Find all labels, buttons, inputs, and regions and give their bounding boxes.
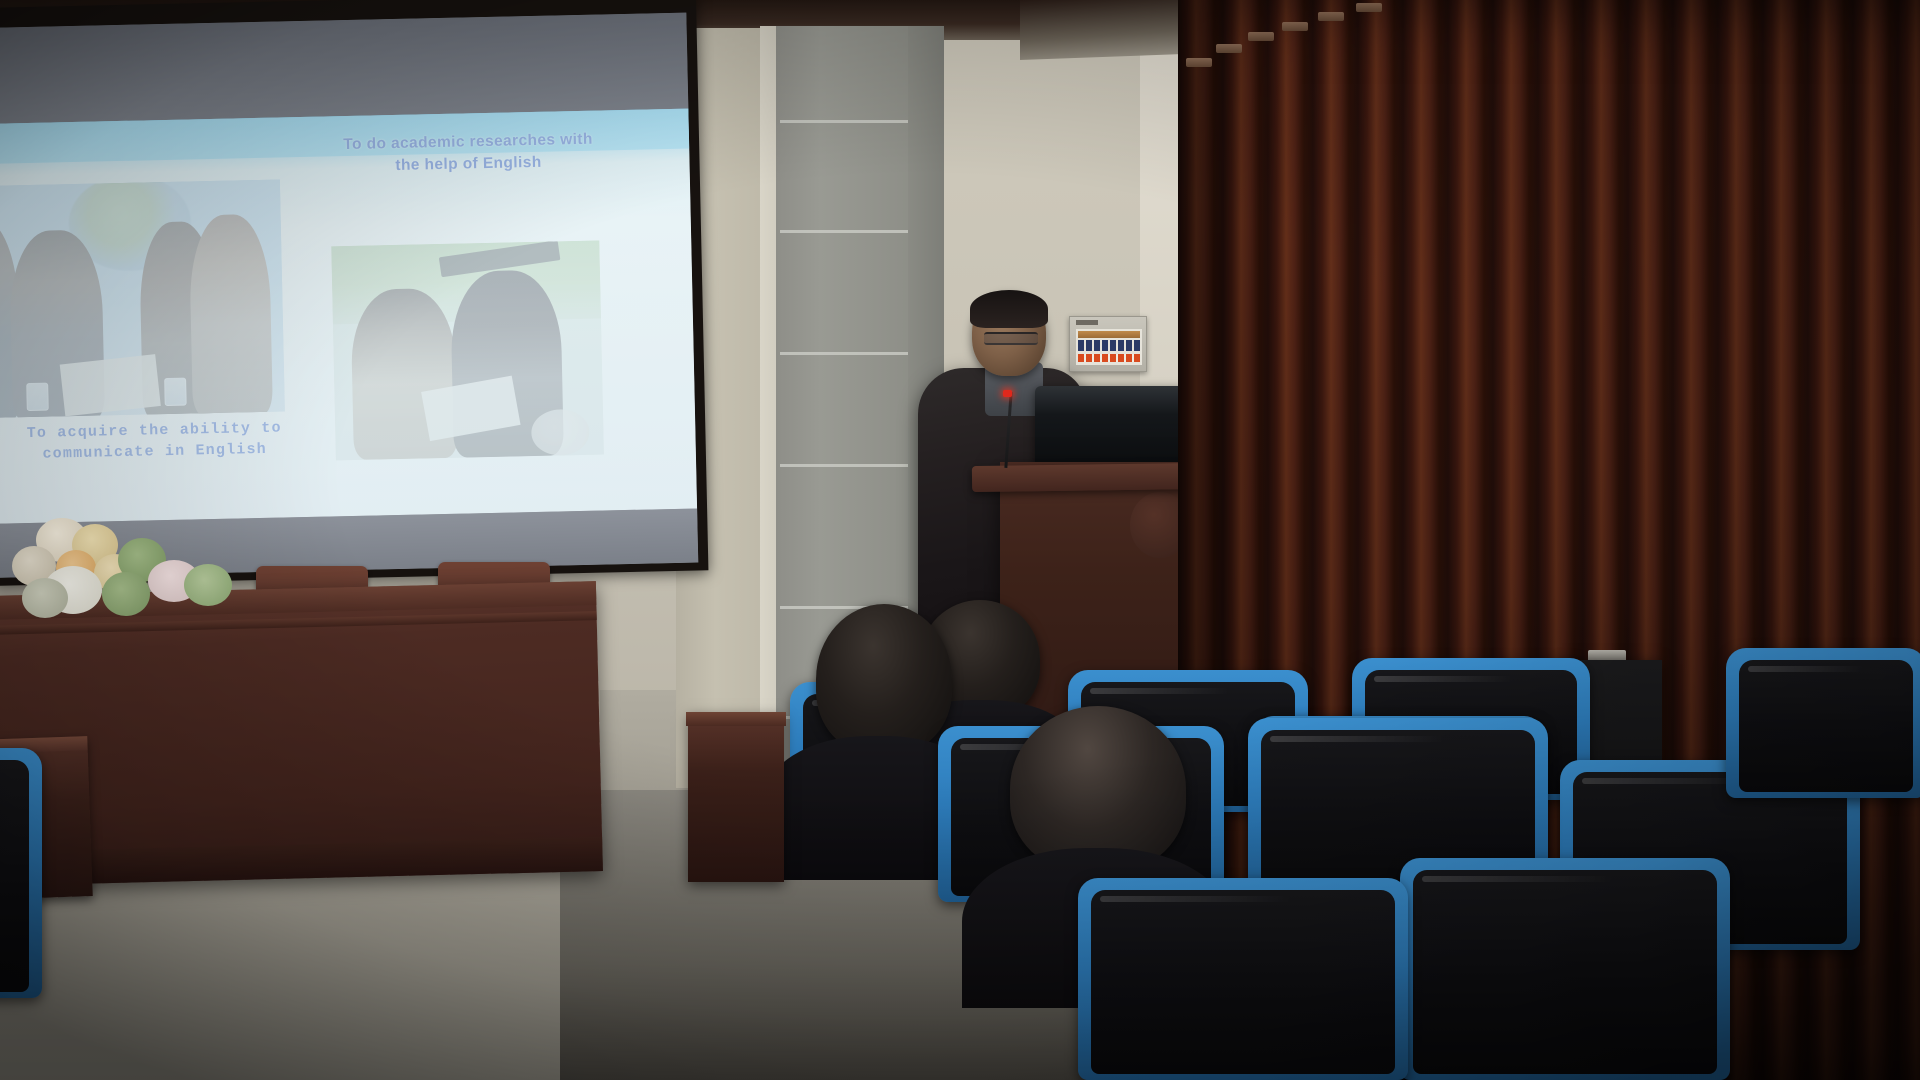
seat-highlight	[1100, 896, 1291, 902]
seat-highlight	[1422, 876, 1613, 882]
seat-cushion	[1091, 890, 1395, 1074]
projector-haze	[331, 241, 604, 461]
projection-screen: To do academic researches with the help …	[0, 0, 708, 586]
column-grout-line	[780, 120, 920, 123]
seat-cushion	[1413, 870, 1717, 1074]
conference-hall-photo: To do academic researches with the help …	[0, 0, 1920, 1080]
panel-terminal-strip	[1078, 354, 1140, 362]
panel-label	[1076, 320, 1098, 325]
slide-caption-research: To do academic researches with the help …	[343, 129, 594, 178]
foliage	[22, 578, 68, 618]
slide-photo-graduation	[331, 241, 604, 461]
column-grout-line	[780, 464, 920, 467]
audience-person-head	[816, 604, 952, 754]
screen-top-shadow	[0, 13, 688, 126]
projector-haze	[0, 180, 285, 419]
eyeglasses-icon	[984, 332, 1038, 345]
auditorium-seat[interactable]	[1726, 648, 1920, 798]
front-side-table	[688, 712, 784, 882]
slide-photo-conference	[0, 180, 285, 419]
seat-highlight	[1090, 688, 1229, 694]
presenter-hair	[970, 290, 1048, 328]
column-grout-line	[780, 352, 920, 355]
panel-busbar	[1078, 331, 1140, 338]
seat-cushion	[1739, 660, 1913, 792]
panel-interior	[1076, 329, 1142, 365]
auditorium-seat[interactable]	[1078, 878, 1408, 1080]
auditorium-seat[interactable]	[1400, 858, 1730, 1080]
screen-surface: To do academic researches with the help …	[0, 13, 698, 578]
auditorium-seat[interactable]	[0, 748, 42, 998]
slide-content: To do academic researches with the help …	[0, 109, 697, 524]
seat-cushion	[0, 760, 29, 992]
seat-highlight	[1374, 676, 1512, 682]
front-side-table-top	[686, 712, 786, 726]
seat-highlight	[1270, 736, 1444, 742]
electrical-breaker-panel	[1069, 316, 1147, 372]
column-grout-line	[780, 230, 920, 233]
foliage	[102, 572, 150, 616]
panel-breaker-row	[1078, 340, 1140, 351]
slide-caption-acquire: To acquire the ability to communicate in…	[9, 417, 300, 466]
floral-arrangement	[8, 516, 258, 624]
seat-highlight	[1748, 666, 1864, 672]
microphone-led-icon	[1003, 390, 1012, 397]
foliage	[184, 564, 232, 606]
